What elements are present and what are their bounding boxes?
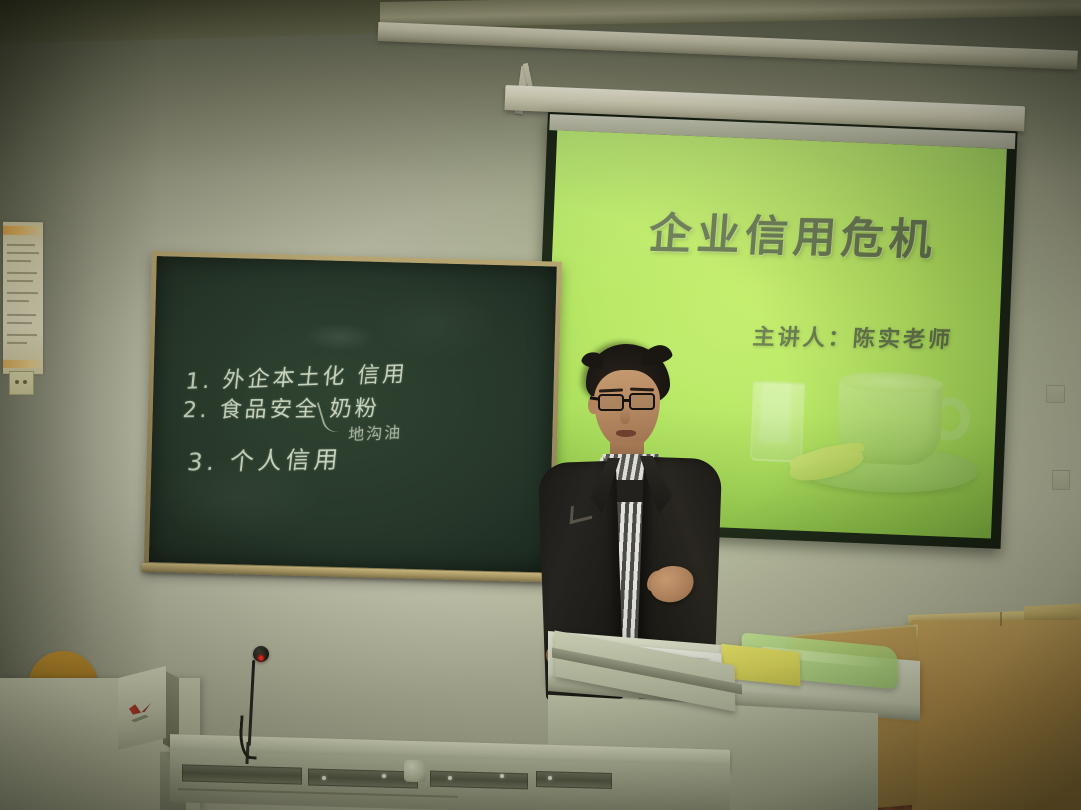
rack-indicator-led [548, 776, 552, 780]
notice-text-line [7, 334, 37, 336]
rack-control-knob[interactable] [404, 760, 426, 783]
wall-outlet-plate[interactable] [1052, 470, 1070, 490]
outlet-hole [15, 380, 19, 384]
classroom-photo: 企业信用危机 主讲人：陈实老师 1. 外企本土化 信用 2. 食品安全 奶粉 地… [0, 0, 1081, 810]
chalk-smudge [304, 322, 375, 352]
glasses-lens-right [629, 393, 655, 410]
notice-text-line [7, 252, 39, 254]
notice-text-line [7, 322, 32, 324]
chalkboard-line-3: 3. 个人信用 [186, 440, 344, 478]
notice-text-line [7, 292, 38, 294]
slide-title: 企业信用危机 [647, 199, 972, 268]
mouth [616, 430, 636, 437]
rack-indicator-led [500, 774, 504, 778]
notice-text-line [7, 272, 37, 274]
glasses-bridge [623, 399, 630, 402]
glasses-lens-left [598, 394, 624, 411]
blackboard[interactable]: 1. 外企本土化 信用 2. 食品安全 奶粉 地沟油 3. 个人信用 [144, 251, 562, 582]
notice-text-line [7, 280, 33, 282]
power-outlet[interactable] [9, 371, 34, 395]
notice-text-line [7, 260, 31, 262]
hair-spike [638, 342, 673, 367]
blackboard-surface[interactable]: 1. 外企本土化 信用 2. 食品安全 奶粉 地沟油 3. 个人信用 [149, 256, 557, 572]
outlet-hole [23, 380, 27, 384]
console-top-panel[interactable] [118, 666, 166, 750]
rack-slot[interactable] [182, 764, 302, 784]
notice-text-line [7, 244, 35, 246]
wall-switch-plate[interactable] [1046, 385, 1065, 403]
notice-text-line [7, 300, 29, 302]
notice-text-line [7, 314, 36, 316]
tea-bag [761, 383, 791, 442]
nose [620, 408, 630, 424]
right-desk-body [912, 620, 1081, 810]
chalkboard-line-2b: 地沟油 [348, 419, 403, 445]
microphone-led-indicator [258, 655, 264, 661]
rack-indicator-led [382, 774, 386, 778]
slide-subtitle: 主讲人：陈实老师 [752, 319, 955, 354]
rack-indicator-led [322, 776, 326, 780]
notice-text-line [7, 342, 27, 344]
wall-notice-poster [3, 222, 43, 374]
notice-header-band [3, 226, 43, 235]
rack-slot[interactable] [536, 771, 612, 789]
desk-seam [1000, 612, 1002, 626]
rack-indicator-led [448, 776, 452, 780]
slide-teacup-artwork [743, 352, 989, 502]
notice-footer-band [3, 360, 43, 368]
rack-slot[interactable] [430, 771, 528, 790]
